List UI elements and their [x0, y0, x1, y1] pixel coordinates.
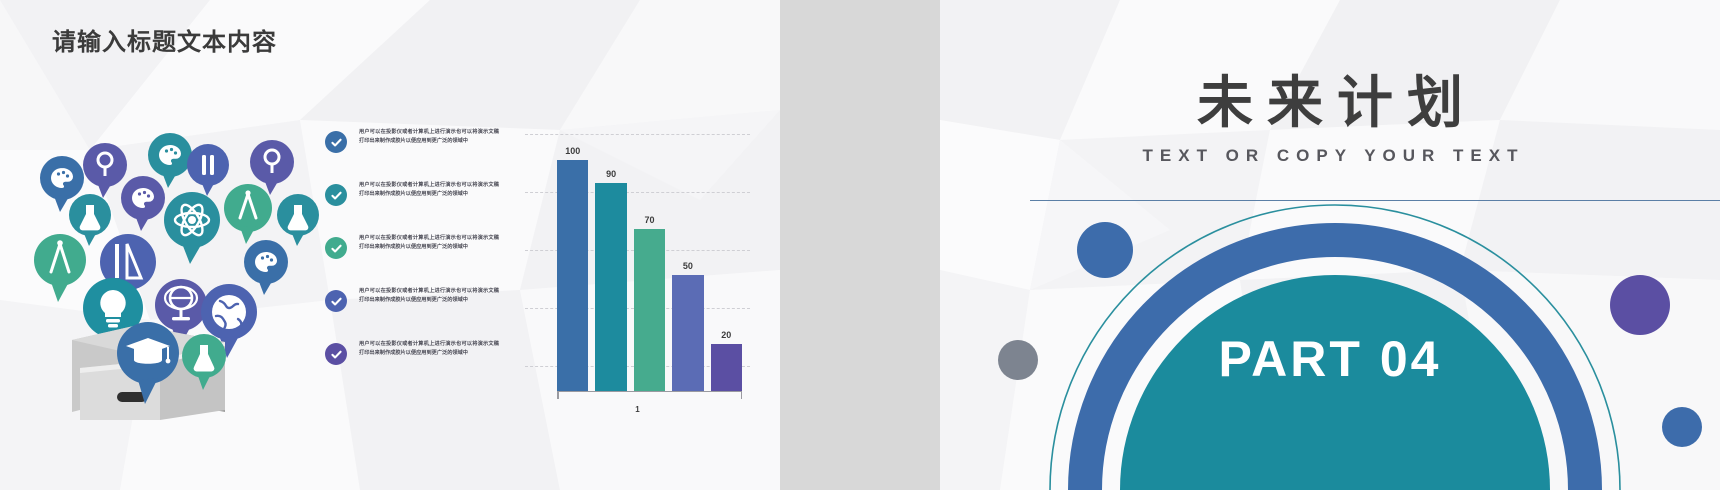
part-label: PART 04 — [940, 330, 1720, 388]
x-axis-line — [557, 391, 742, 392]
check-icon — [325, 184, 347, 206]
bar-value-label: 90 — [606, 169, 616, 179]
list-item-text: 用户可以在投影仪或者计算机上进行演示也可以将演示文稿打印出来制作成胶片以便应用到… — [359, 234, 499, 252]
dot-blue-bottom-icon — [1662, 407, 1702, 447]
bar[interactable] — [711, 344, 742, 392]
idea-box-illustration — [20, 120, 310, 420]
bar-group[interactable]: 20 — [711, 130, 742, 392]
bubble-palette-icon — [121, 176, 165, 231]
section-subtitle: TEXT OR COPY YOUR TEXT — [940, 146, 1720, 166]
bubble-atom-icon — [164, 192, 220, 264]
bar-value-label: 20 — [721, 330, 731, 340]
slide-left: 请输入标题文本内容 — [0, 0, 780, 490]
bar-chart: 100 90 70 50 20 — [525, 120, 750, 430]
bubble-utensils-icon — [187, 144, 229, 196]
list-item[interactable]: 用户可以在投影仪或者计算机上进行演示也可以将演示文稿打印出来制作成胶片以便应用到… — [325, 287, 515, 340]
bar[interactable] — [634, 229, 665, 392]
check-icon — [325, 237, 347, 259]
x-axis-label: 1 — [525, 405, 750, 414]
bubble-flask-icon — [69, 194, 111, 246]
list-item-text: 用户可以在投影仪或者计算机上进行演示也可以将演示文稿打印出来制作成胶片以便应用到… — [359, 128, 499, 146]
axis-tick — [741, 392, 743, 399]
bar-group[interactable]: 90 — [595, 130, 626, 392]
check-icon — [325, 131, 347, 153]
bubble-compass-icon — [224, 184, 272, 244]
slide-gap — [780, 0, 940, 490]
bubble-palette-icon — [244, 240, 288, 295]
list-item[interactable]: 用户可以在投影仪或者计算机上进行演示也可以将演示文稿打印出来制作成胶片以便应用到… — [325, 128, 515, 181]
page-title: 请输入标题文本内容 — [52, 22, 277, 57]
bubble-compass-icon — [34, 234, 86, 302]
slide-right: 未来计划 TEXT OR COPY YOUR TEXT PART 04 — [940, 0, 1720, 490]
list-item[interactable]: 用户可以在投影仪或者计算机上进行演示也可以将演示文稿打印出来制作成胶片以便应用到… — [325, 234, 515, 287]
bullet-list: 用户可以在投影仪或者计算机上进行演示也可以将演示文稿打印出来制作成胶片以便应用到… — [325, 128, 515, 393]
presentation-stage: 请输入标题文本内容 — [0, 0, 1720, 490]
bar[interactable] — [557, 160, 588, 392]
list-item[interactable]: 用户可以在投影仪或者计算机上进行演示也可以将演示文稿打印出来制作成胶片以便应用到… — [325, 181, 515, 234]
bar-group[interactable]: 70 — [634, 130, 665, 392]
bar-value-label: 70 — [644, 215, 654, 225]
bar-group[interactable]: 50 — [672, 130, 703, 392]
bubble-magnifier-icon — [83, 143, 127, 198]
bar-value-label: 50 — [683, 261, 693, 271]
dot-blue-top-icon — [1077, 222, 1133, 278]
bar-group[interactable]: 100 — [557, 130, 588, 392]
list-item-text: 用户可以在投影仪或者计算机上进行演示也可以将演示文稿打印出来制作成胶片以便应用到… — [359, 340, 499, 358]
chart-plot-area: 100 90 70 50 20 — [557, 130, 742, 392]
dot-purple-right-icon — [1610, 275, 1670, 335]
check-icon — [325, 290, 347, 312]
list-item-text: 用户可以在投影仪或者计算机上进行演示也可以将演示文稿打印出来制作成胶片以便应用到… — [359, 181, 499, 199]
check-icon — [325, 343, 347, 365]
bar[interactable] — [595, 183, 626, 392]
list-item-text: 用户可以在投影仪或者计算机上进行演示也可以将演示文稿打印出来制作成胶片以便应用到… — [359, 287, 499, 305]
list-item[interactable]: 用户可以在投影仪或者计算机上进行演示也可以将演示文稿打印出来制作成胶片以便应用到… — [325, 340, 515, 393]
bar[interactable] — [672, 275, 703, 392]
axis-tick — [557, 392, 559, 399]
section-title: 未来计划 — [940, 58, 1720, 139]
bar-value-label: 100 — [565, 146, 580, 156]
